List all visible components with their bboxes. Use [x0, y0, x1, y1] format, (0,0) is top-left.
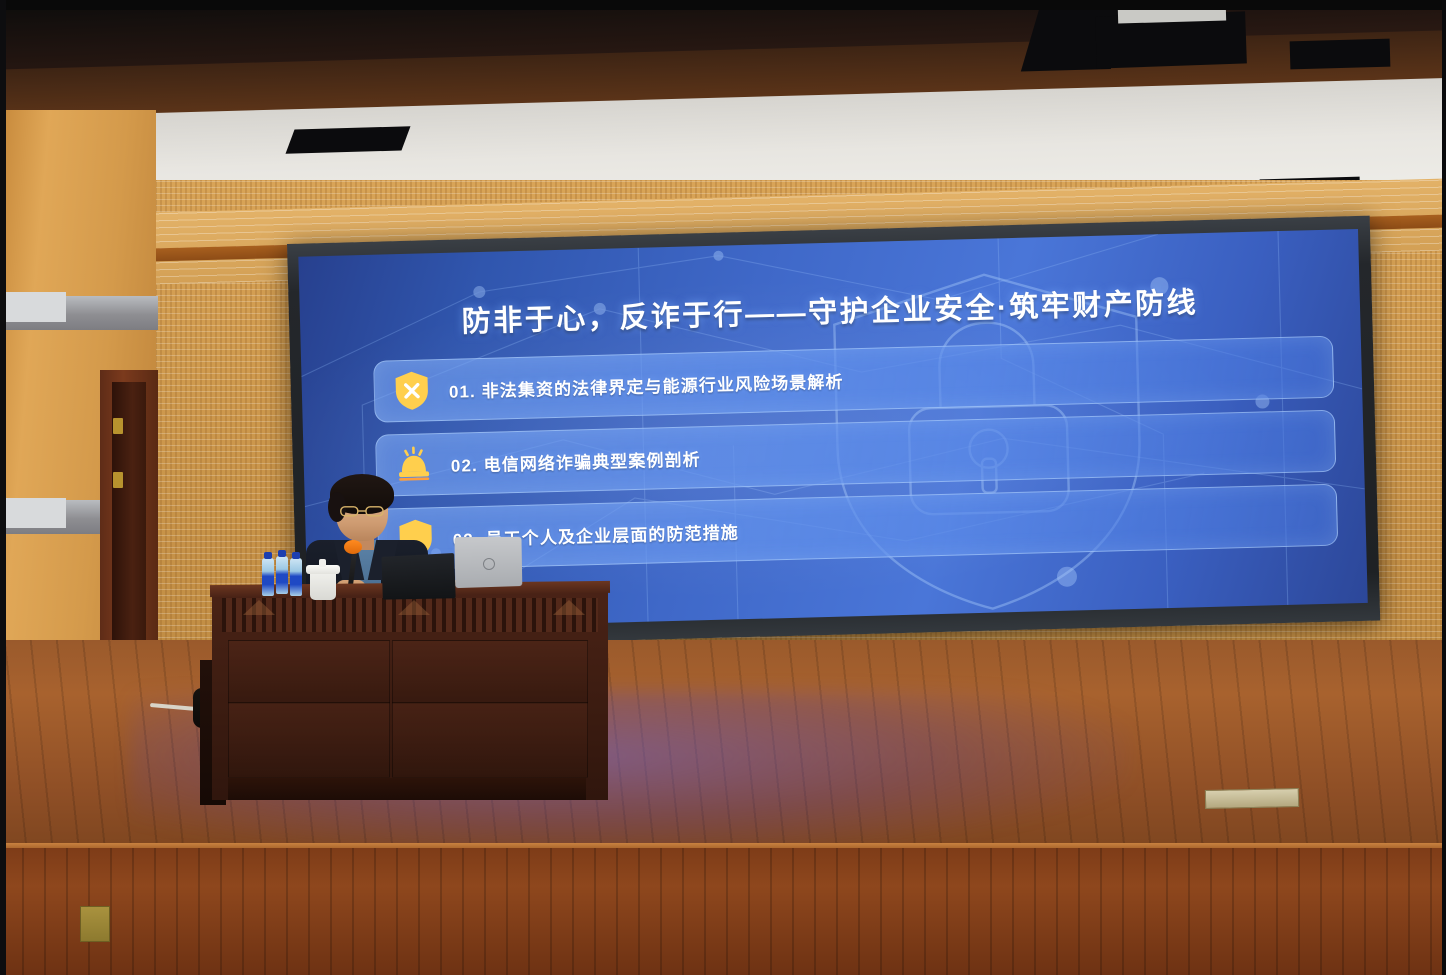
door-hinge-icon	[113, 418, 123, 434]
letterbox-right	[1442, 0, 1446, 975]
screenshot-root: 防非于心，反诈于行——守护企业安全·筑牢财产防线 01. 非法集资的法律界定与能…	[0, 0, 1446, 975]
glasses-icon	[340, 506, 384, 517]
column-band-white	[6, 292, 66, 322]
laptop-brand-logo-icon	[483, 558, 495, 570]
list-item-label: 01. 非法集资的法律界定与能源行业风险场景解析	[449, 367, 844, 402]
teacup[interactable]	[310, 570, 336, 600]
letterbox-top	[0, 0, 1446, 10]
alarm-siren-icon	[376, 445, 451, 485]
list-item-text: 员工个人及企业层面的防范措施	[485, 523, 739, 549]
podium-front-panel	[228, 702, 390, 778]
letterbox-left	[0, 0, 6, 975]
laptop-black[interactable]	[381, 553, 455, 600]
teacup-knob	[319, 559, 326, 567]
list-item[interactable]: 02. 电信网络诈骗典型案例剖析	[375, 410, 1336, 497]
stage-front-outlet-plate[interactable]	[80, 906, 110, 942]
water-bottle[interactable]	[276, 556, 288, 594]
podium-base	[228, 778, 586, 800]
list-item-text: 非法集资的法律界定与能源行业风险场景解析	[481, 372, 843, 400]
door-hinge-icon	[113, 472, 123, 488]
podium-chevron-ornament	[243, 600, 275, 615]
stage-front-facing	[0, 848, 1446, 975]
conference-hall-scene: 防非于心，反诈于行——守护企业安全·筑牢财产防线 01. 非法集资的法律界定与能…	[0, 0, 1446, 975]
podium-front-panel	[228, 640, 390, 704]
water-bottle[interactable]	[290, 558, 302, 596]
bottle-cap	[292, 552, 300, 559]
ceiling-light-slot-icon	[286, 126, 411, 154]
bottle-cap	[264, 552, 272, 559]
bottle-cap	[278, 550, 286, 557]
column-band-white	[6, 498, 66, 528]
podium-front-panel	[392, 640, 588, 704]
podium-chevron-ornament	[553, 600, 585, 615]
list-item-number: 01.	[449, 382, 476, 402]
podium-front-panel	[392, 702, 588, 778]
ceiling-light-slot-icon	[1290, 39, 1391, 70]
list-item-number: 02.	[451, 456, 478, 476]
water-bottle[interactable]	[262, 558, 274, 596]
microphone-icon	[344, 540, 362, 554]
list-item-text: 电信网络诈骗典型案例剖析	[483, 450, 701, 475]
shield-cross-icon	[374, 370, 449, 412]
list-item-label: 02. 电信网络诈骗典型案例剖析	[450, 445, 701, 477]
podium-chevron-ornament	[398, 600, 430, 615]
floor-outlet-plate[interactable]	[1205, 788, 1299, 809]
